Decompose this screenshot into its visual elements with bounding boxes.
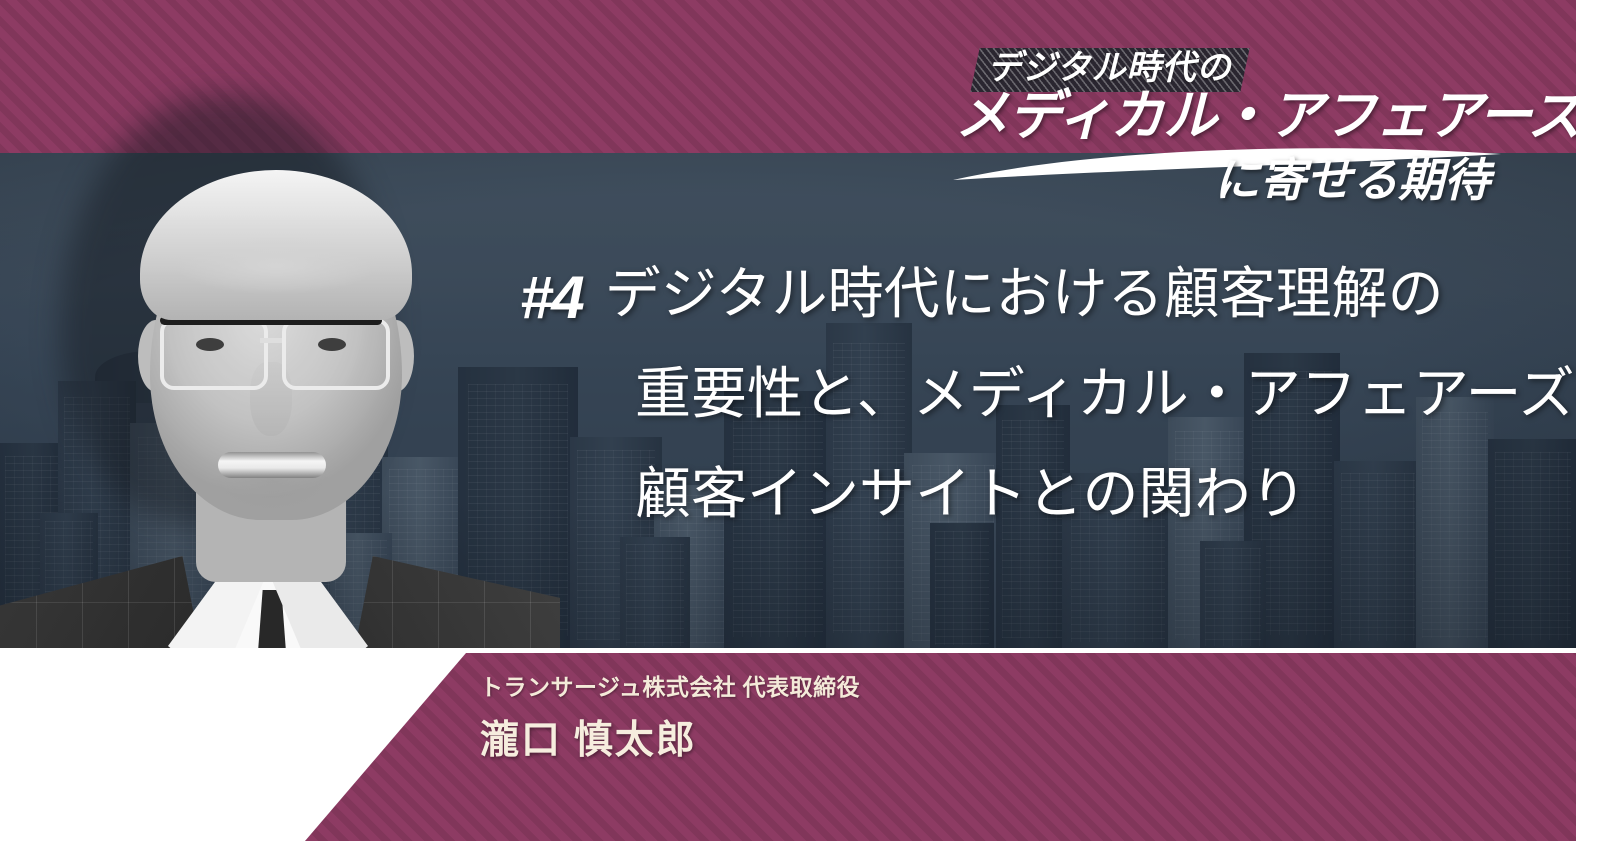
series-logo-line2: メディカル・アフェアーズ: [955, 88, 1581, 145]
headline-line-3: 顧客インサイトとの関わり: [635, 458, 1306, 530]
headline-block: #4 デジタル時代における顧客理解の 重要性と、メディカル・アフェアーズの 顧客…: [520, 258, 1520, 330]
eyeglasses-lens-right: [282, 318, 390, 390]
series-logo-line1: デジタル時代の: [987, 51, 1231, 87]
right-white-margin: [1576, 0, 1601, 841]
speaker-name: 瀧口 慎太郎: [480, 709, 860, 765]
series-logo-line3: に寄せる期待: [1214, 157, 1490, 205]
eyeglasses-bridge: [260, 338, 282, 343]
episode-number: #4: [520, 268, 583, 328]
hair: [140, 170, 412, 320]
mouth: [218, 452, 326, 478]
banner-canvas: デジタル時代の メディカル・アフェアーズ に寄せる期待 #4 デジタル時代におけ…: [0, 0, 1601, 841]
speaker-info: トランサージュ株式会社 代表取締役 瀧口 慎太郎: [480, 668, 860, 765]
speaker-company-title: トランサージュ株式会社 代表取締役: [480, 668, 860, 702]
eyeglasses-lens-left: [160, 318, 268, 390]
headline-line-1: デジタル時代における顧客理解の: [605, 258, 1444, 330]
headline-line-2: 重要性と、メディカル・アフェアーズの: [635, 358, 1601, 430]
series-logo: デジタル時代の メディカル・アフェアーズ に寄せる期待: [955, 40, 1495, 225]
